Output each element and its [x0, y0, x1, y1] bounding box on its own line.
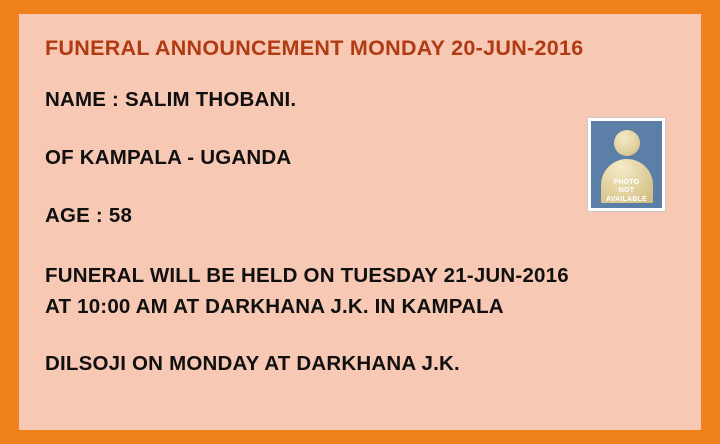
dilsoji-details-line: DILSOJI ON MONDAY AT DARKHANA J.K. [45, 352, 675, 376]
funeral-details-block: FUNERAL WILL BE HELD ON TUESDAY 21-JUN-2… [45, 264, 675, 319]
photo-caption-line-2: NOT [591, 187, 662, 196]
funeral-announcement-card: FUNERAL ANNOUNCEMENT MONDAY 20-JUN-2016 … [19, 14, 701, 430]
photo-caption-line-3: AVAILABLE [591, 196, 662, 205]
photo-placeholder-caption: PHOTO NOT AVAILABLE [591, 179, 662, 205]
funeral-details-line-2: AT 10:00 AM AT DARKHANA J.K. IN KAMPALA [45, 295, 675, 319]
deceased-age-line: AGE : 58 [45, 204, 675, 228]
photo-caption-line-1: PHOTO [591, 179, 662, 188]
deceased-city-line: OF KAMPALA - UGANDA [45, 146, 675, 170]
photo-not-available-icon: PHOTO NOT AVAILABLE [587, 117, 666, 212]
photo-placeholder-inner: PHOTO NOT AVAILABLE [591, 121, 662, 208]
funeral-details-line-1: FUNERAL WILL BE HELD ON TUESDAY 21-JUN-2… [45, 264, 675, 288]
page-title: FUNERAL ANNOUNCEMENT MONDAY 20-JUN-2016 [45, 36, 675, 61]
deceased-name-line: NAME : SALIM THOBANI. [45, 88, 675, 112]
avatar-head-shape [614, 130, 640, 156]
